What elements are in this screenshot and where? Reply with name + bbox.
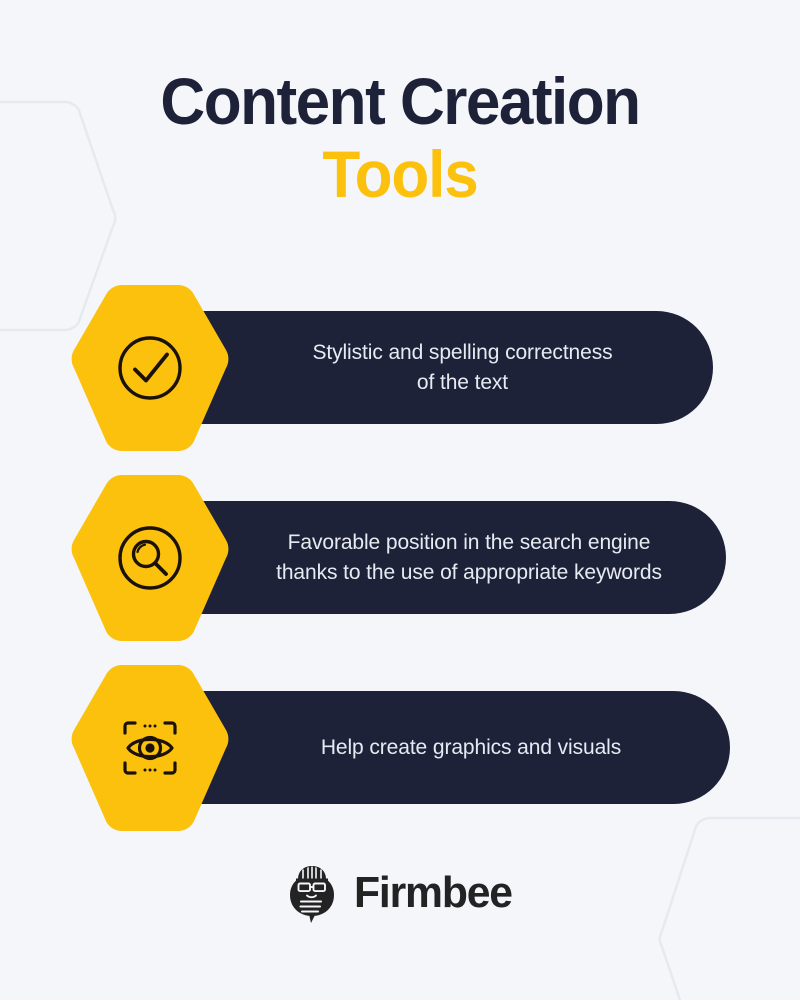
- feature-text: Stylistic and spelling correctness of th…: [234, 338, 638, 398]
- title-line-accent: Tools: [24, 136, 776, 212]
- feature-row[interactable]: Favorable position in the search engine …: [0, 473, 800, 643]
- brand-name: Firmbee: [354, 868, 512, 918]
- feature-pill: Favorable position in the search engine …: [160, 501, 726, 614]
- check-circle-icon: [113, 331, 187, 405]
- eye-scan-icon: [113, 711, 187, 785]
- feature-pill: Help create graphics and visuals: [160, 691, 730, 804]
- brand-logo[interactable]: Firmbee: [0, 862, 800, 924]
- infographic-poster: Content Creation Tools Stylistic and spe…: [0, 0, 800, 1000]
- page-title: Content Creation Tools: [0, 66, 800, 212]
- magnifier-circle-icon: [113, 521, 187, 595]
- title-line-primary: Content Creation: [24, 66, 776, 136]
- firmbee-bee-icon: [284, 862, 340, 924]
- feature-row[interactable]: Stylistic and spelling correctness of th…: [0, 283, 800, 453]
- feature-hexagon-badge: [66, 663, 234, 833]
- feature-hexagon-badge: [66, 473, 234, 643]
- feature-hexagon-badge: [66, 283, 234, 453]
- feature-row[interactable]: Help create graphics and visuals: [0, 663, 800, 833]
- feature-pill: Stylistic and spelling correctness of th…: [160, 311, 713, 424]
- feature-text: Help create graphics and visuals: [243, 733, 647, 763]
- feature-text: Favorable position in the search engine …: [198, 528, 688, 588]
